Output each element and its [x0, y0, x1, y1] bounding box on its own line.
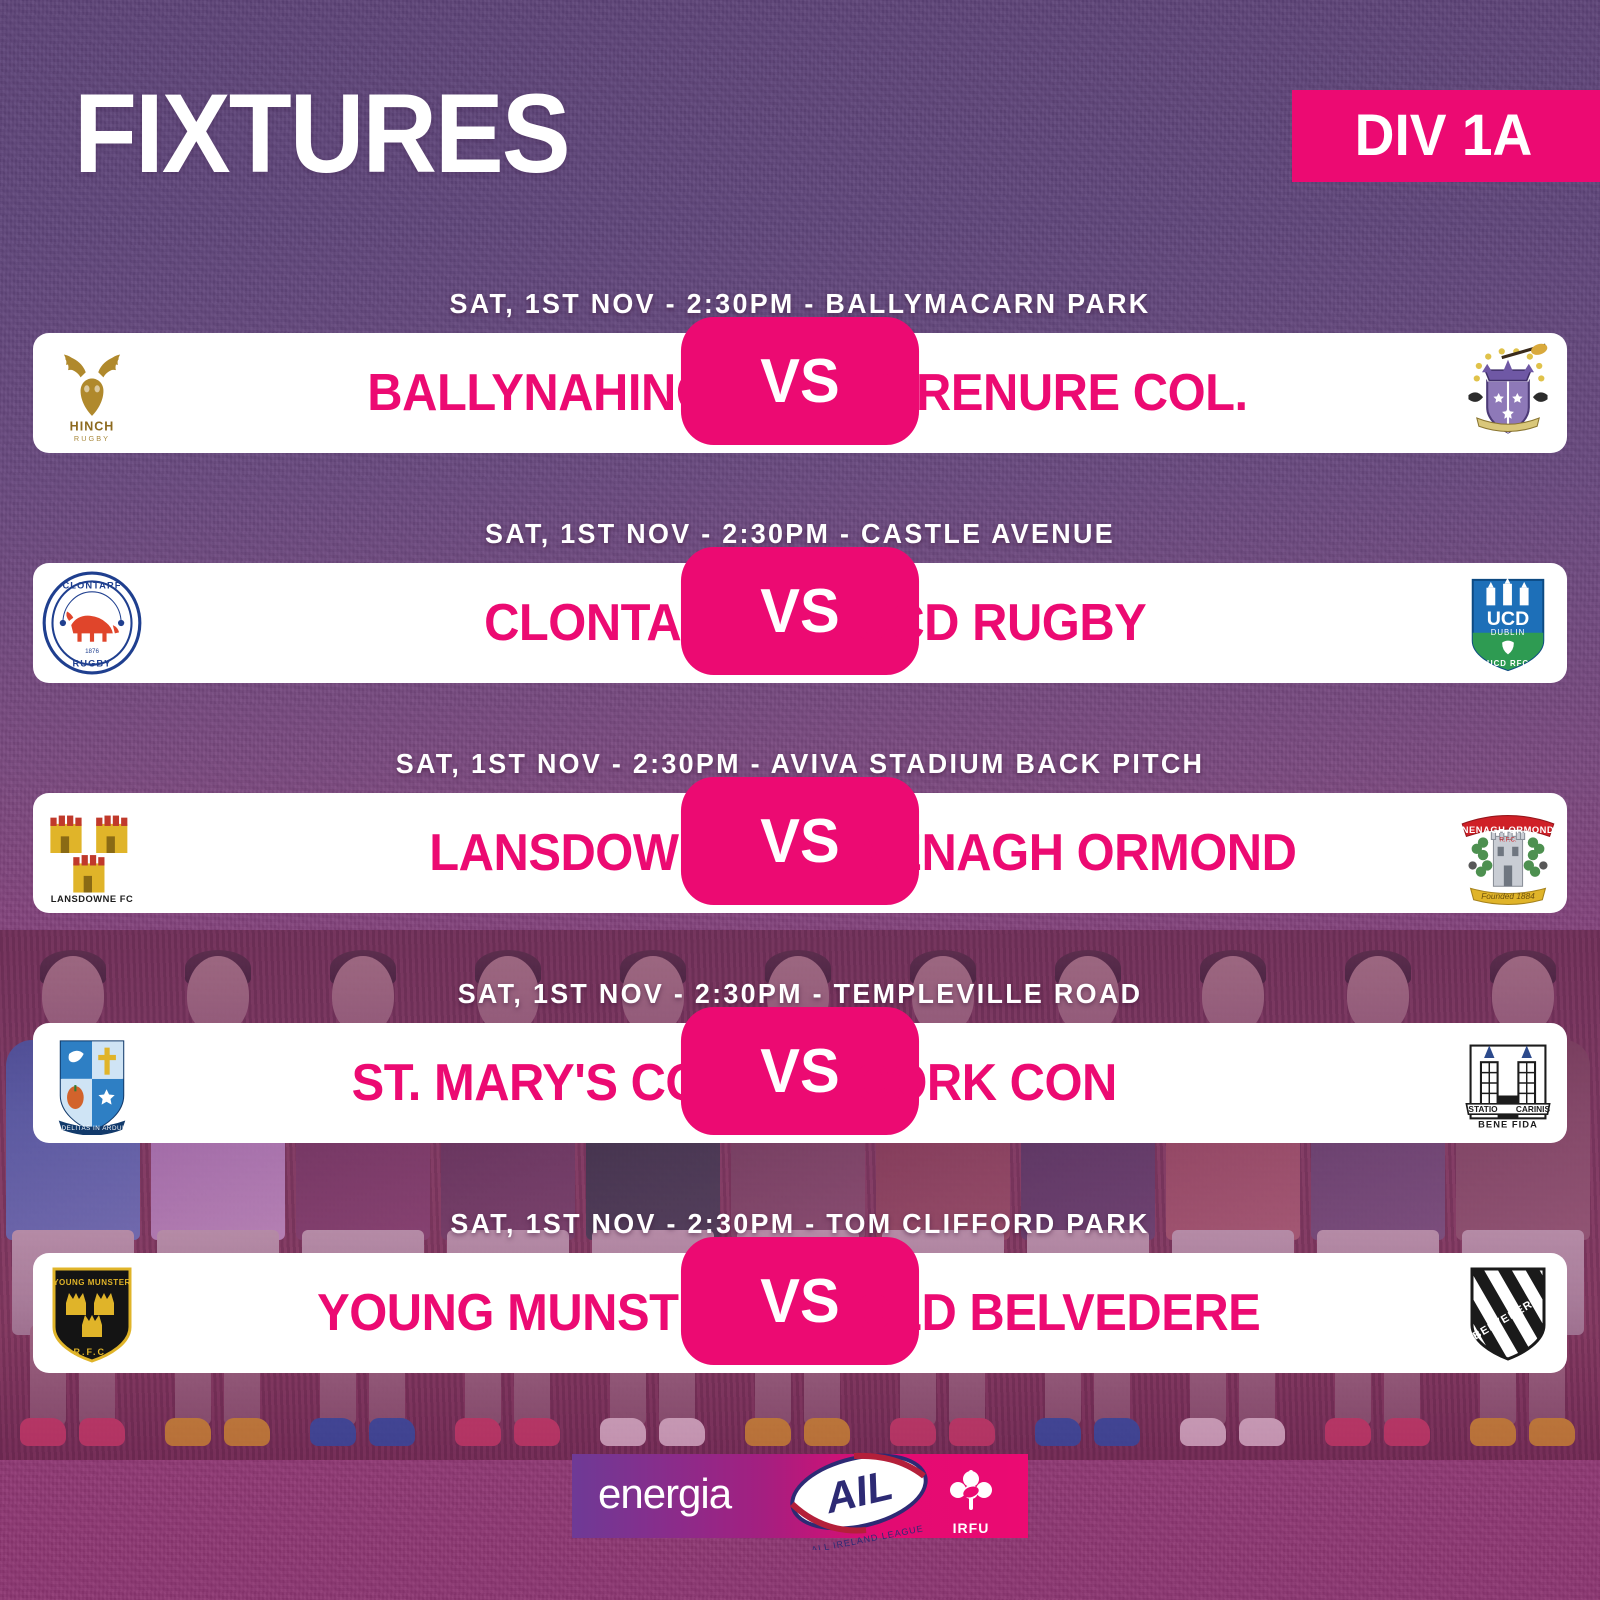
old-belvedere-crest: BELVEDERE: [1449, 1254, 1567, 1372]
fixture-venue-line: SAT, 1ST NOV - 2:30PM - TEMPLEVILLE ROAD: [32, 978, 1568, 1010]
svg-text:1876: 1876: [85, 648, 99, 655]
svg-text:UCD RFC: UCD RFC: [1487, 659, 1529, 668]
cork-constitution-crest: STATIO CARINIS BENE FIDA: [1449, 1024, 1567, 1142]
svg-text:HINCH: HINCH: [70, 419, 115, 433]
terenure-college-crest: [1449, 334, 1567, 452]
footer-sponsor-bar: energia AIL ALL IRELAND LEAGUE: [572, 1454, 1028, 1538]
page-title: FIXTURES: [74, 78, 569, 190]
away-team-name: OLD BELVEDERE: [800, 1287, 1410, 1339]
svg-text:NENAGH ORMOND: NENAGH ORMOND: [1462, 825, 1554, 835]
fixture-row: SAT, 1ST NOV - 2:30PM - CASTLE AVENUE CL…: [0, 518, 1600, 748]
svg-text:R.F.C.: R.F.C.: [73, 1347, 110, 1357]
fixture-venue-line: SAT, 1ST NOV - 2:30PM - BALLYMACARN PARK: [32, 288, 1568, 320]
away-team-name: UCD RUGBY: [800, 597, 1410, 649]
away-team-name: NENAGH ORMOND: [800, 827, 1410, 879]
svg-text:YOUNG MUNSTER: YOUNG MUNSTER: [53, 1278, 131, 1287]
st-marys-college-crest: FIDELITAS IN ARDUIS: [33, 1024, 151, 1142]
young-munster-crest: YOUNG MUNSTER R.F.C.: [33, 1254, 151, 1372]
svg-text:BENE FIDA: BENE FIDA: [1478, 1120, 1538, 1130]
svg-text:LANSDOWNE FC: LANSDOWNE FC: [51, 894, 134, 904]
fixture-card[interactable]: YOUNG MUNSTER R.F.C. YOUNG MUNSTER VS OL…: [33, 1253, 1567, 1373]
clontarf-bull-crest: CLONTARF RUGBY 1876: [33, 564, 151, 682]
fixture-card[interactable]: HINCH RUGBY BALLYNAHINCH VS TERENURE COL…: [33, 333, 1567, 453]
fixture-venue-line: SAT, 1ST NOV - 2:30PM - TOM CLIFFORD PAR…: [32, 1208, 1568, 1240]
svg-text:RUGBY: RUGBY: [73, 659, 112, 669]
lansdowne-fc-crest: LANSDOWNE FC: [33, 794, 151, 912]
svg-text:RUGBY: RUGBY: [74, 434, 110, 443]
irfu-logo: IRFU: [940, 1468, 1002, 1536]
fixture-row: SAT, 1ST NOV - 2:30PM - TEMPLEVILLE ROAD: [0, 978, 1600, 1208]
ail-logo: AIL ALL IRELAND LEAGUE: [784, 1442, 934, 1550]
fixture-row: SAT, 1ST NOV - 2:30PM - TOM CLIFFORD PAR…: [0, 1208, 1600, 1438]
svg-text:FIDELITAS IN ARDUIS: FIDELITAS IN ARDUIS: [55, 1125, 129, 1132]
fixture-venue-line: SAT, 1ST NOV - 2:30PM - CASTLE AVENUE: [32, 518, 1568, 550]
fixtures-list: SAT, 1ST NOV - 2:30PM - BALLYMACARN PARK…: [0, 288, 1600, 1438]
fixture-card[interactable]: FIDELITAS IN ARDUIS ST. MARY'S COL. VS C…: [33, 1023, 1567, 1143]
shamrock-icon: [940, 1468, 1002, 1514]
ucd-rugby-crest: UCD DUBLIN UCD RFC: [1449, 564, 1567, 682]
away-team-name: TERENURE COL.: [800, 367, 1410, 419]
ballynahinch-stag-crest: HINCH RUGBY: [33, 334, 151, 452]
fixture-card[interactable]: LANSDOWNE FC LANSDOWNE VS NENAGH ORMOND: [33, 793, 1567, 913]
division-badge-label: DIV 1A: [1354, 107, 1532, 165]
svg-text:UCD: UCD: [1487, 608, 1529, 630]
svg-text:DUBLIN: DUBLIN: [1491, 628, 1526, 637]
away-team-name: CORK CON: [800, 1057, 1410, 1109]
fixture-row: SAT, 1ST NOV - 2:30PM - AVIVA STADIUM BA…: [0, 748, 1600, 978]
svg-text:STATIO: STATIO: [1468, 1104, 1498, 1114]
fixtures-poster: FIXTURES DIV 1A SAT, 1ST NOV - 2:30PM - …: [0, 0, 1600, 1600]
irfu-label: IRFU: [940, 1520, 1002, 1536]
fixture-venue-line: SAT, 1ST NOV - 2:30PM - AVIVA STADIUM BA…: [32, 748, 1568, 780]
fixture-card[interactable]: CLONTARF RUGBY 1876 CLONTARF VS UCD RUGB…: [33, 563, 1567, 683]
svg-text:R.F.C.: R.F.C.: [1499, 837, 1517, 844]
svg-text:CARINIS: CARINIS: [1516, 1104, 1551, 1114]
svg-text:CLONTARF: CLONTARF: [62, 581, 121, 591]
svg-text:Founded 1884: Founded 1884: [1481, 891, 1535, 901]
nenagh-ormond-crest: NENAGH ORMOND R.F.C. Founded 1884: [1449, 794, 1567, 912]
fixture-row: SAT, 1ST NOV - 2:30PM - BALLYMACARN PARK…: [0, 288, 1600, 518]
energia-logo: energia: [572, 1473, 731, 1515]
division-badge: DIV 1A: [1292, 90, 1600, 182]
